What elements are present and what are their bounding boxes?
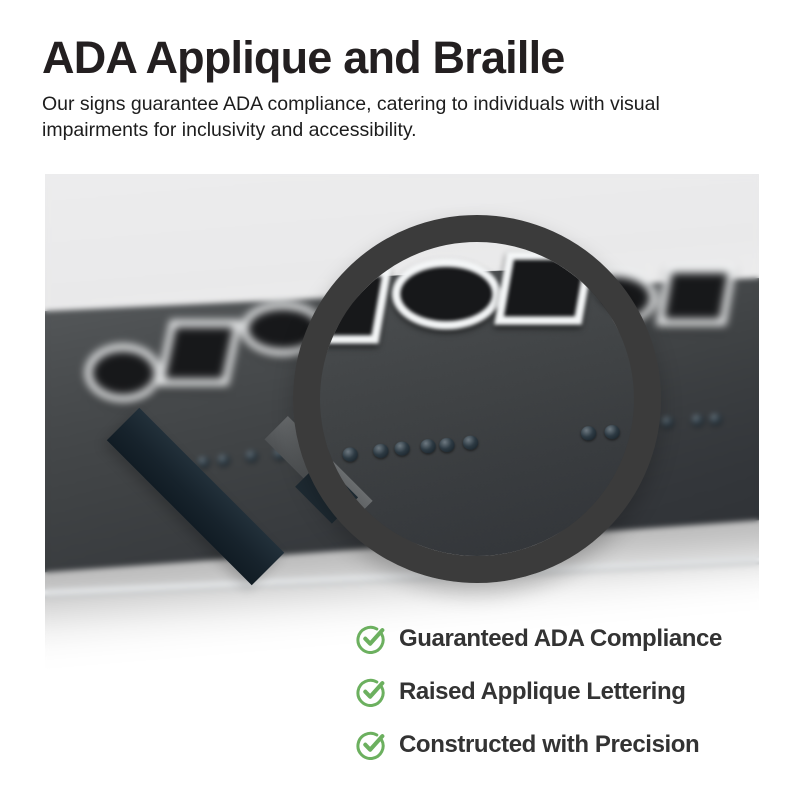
check-circle-icon (356, 623, 387, 654)
check-circle-icon (356, 729, 387, 760)
feature-label: Constructed with Precision (399, 733, 699, 757)
feature-item: Constructed with Precision (356, 718, 776, 771)
feature-label: Guaranteed ADA Compliance (399, 627, 722, 651)
feature-item: Guaranteed ADA Compliance (356, 612, 776, 665)
header: ADA Applique and Braille Our signs guara… (42, 34, 762, 143)
feature-label: Raised Applique Lettering (399, 680, 685, 704)
feature-list: Guaranteed ADA Compliance Raised Appliqu… (356, 612, 776, 771)
check-circle-icon (356, 676, 387, 707)
poster-canvas: ADA Applique and Braille Our signs guara… (0, 0, 804, 804)
page-title: ADA Applique and Braille (42, 34, 762, 83)
feature-item: Raised Applique Lettering (356, 665, 776, 718)
page-subtitle: Our signs guarantee ADA compliance, cate… (42, 91, 732, 143)
